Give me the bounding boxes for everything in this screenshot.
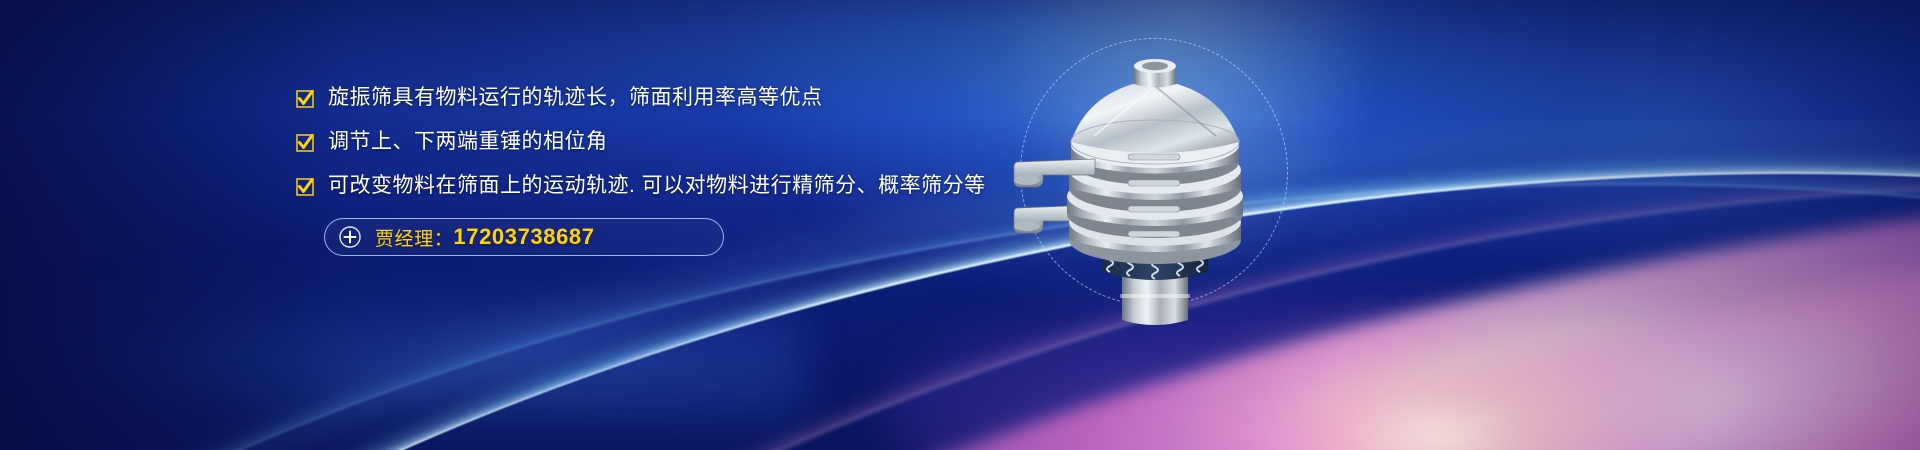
contact-pill[interactable]: 贾经理： 17203738687 bbox=[324, 218, 724, 256]
list-item-label: 调节上、下两端重锤的相位角 bbox=[328, 128, 608, 156]
list-item-label: 可改变物料在筛面上的运动轨迹. 可以对物料进行精筛分、概率筛分等 bbox=[328, 172, 986, 200]
check-box-icon bbox=[296, 90, 314, 108]
check-box-icon bbox=[296, 134, 314, 152]
list-item-label: 旋振筛具有物料运行的轨迹长，筛面利用率高等优点 bbox=[328, 84, 823, 112]
feature-list: 旋振筛具有物料运行的轨迹长，筛面利用率高等优点 调节上、下两端重锤的相位角 可改… bbox=[296, 84, 1056, 216]
contact-phone-number[interactable]: 17203738687 bbox=[453, 224, 594, 250]
list-item: 可改变物料在筛面上的运动轨迹. 可以对物料进行精筛分、概率筛分等 bbox=[296, 172, 1056, 200]
plus-circle-icon bbox=[339, 226, 361, 248]
contact-name-label: 贾经理： bbox=[375, 224, 453, 251]
list-item: 调节上、下两端重锤的相位角 bbox=[296, 128, 1056, 156]
check-box-icon bbox=[296, 178, 314, 196]
vignette-overlay bbox=[0, 0, 1920, 450]
promo-banner: 旋振筛具有物料运行的轨迹长，筛面利用率高等优点 调节上、下两端重锤的相位角 可改… bbox=[0, 0, 1920, 450]
list-item: 旋振筛具有物料运行的轨迹长，筛面利用率高等优点 bbox=[296, 84, 1056, 112]
